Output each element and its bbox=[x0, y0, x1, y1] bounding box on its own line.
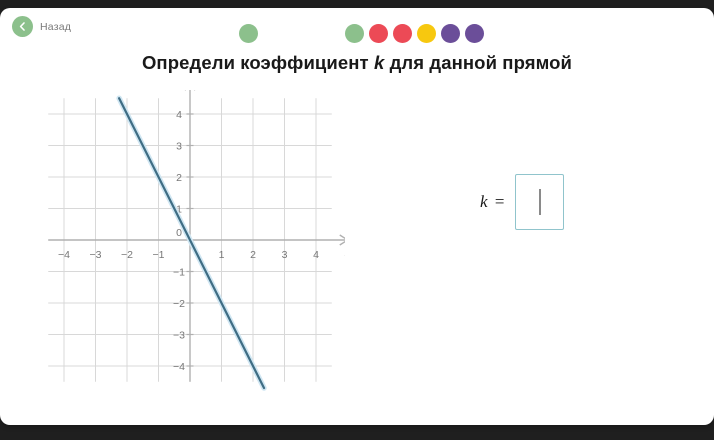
y-tick-label: 3 bbox=[176, 141, 182, 153]
page-title: Определи коэффициент k для данной прямой bbox=[0, 52, 714, 74]
progress-dot-1 bbox=[239, 24, 258, 43]
progress-dot-4 bbox=[393, 24, 412, 43]
x-axis-label: x bbox=[344, 247, 345, 259]
graph-svg: −4−3−2−112344321−1−2−3−40xy bbox=[45, 90, 345, 395]
answer-input[interactable] bbox=[515, 174, 564, 230]
progress-indicator bbox=[239, 24, 475, 43]
progress-dot-7 bbox=[465, 24, 484, 43]
y-tick-label: −2 bbox=[173, 298, 185, 310]
text-caret bbox=[539, 189, 541, 215]
progress-dot-2 bbox=[345, 24, 364, 43]
back-label: Назад bbox=[40, 21, 71, 33]
answer-area: k = bbox=[480, 174, 564, 230]
coordinate-plane: −4−3−2−112344321−1−2−3−40xy bbox=[45, 90, 345, 395]
x-tick-label: −3 bbox=[90, 249, 102, 261]
y-tick-label: −3 bbox=[173, 330, 185, 342]
x-tick-label: −2 bbox=[121, 249, 133, 261]
progress-dot-3 bbox=[369, 24, 388, 43]
y-tick-label: −4 bbox=[173, 361, 185, 373]
progress-dot-6 bbox=[441, 24, 460, 43]
answer-label: k = bbox=[480, 192, 506, 212]
x-tick-label: 4 bbox=[313, 249, 319, 261]
x-tick-label: −4 bbox=[58, 249, 70, 261]
x-tick-label: 3 bbox=[282, 249, 288, 261]
plotted-line bbox=[119, 98, 264, 388]
x-tick-label: 1 bbox=[219, 249, 225, 261]
lesson-card: Назад Определи коэффициент k для данной … bbox=[0, 8, 714, 425]
title-variable: k bbox=[374, 52, 384, 73]
y-tick-label: 4 bbox=[176, 109, 182, 121]
origin-label: 0 bbox=[176, 227, 182, 239]
title-text-before: Определи коэффициент bbox=[142, 52, 374, 73]
x-tick-label: −1 bbox=[153, 249, 165, 261]
screen-root: Назад Определи коэффициент k для данной … bbox=[0, 0, 714, 440]
y-tick-label: 2 bbox=[176, 172, 182, 184]
y-tick-label: −1 bbox=[173, 267, 185, 279]
x-tick-label: 2 bbox=[250, 249, 256, 261]
back-button[interactable]: Назад bbox=[12, 16, 71, 37]
title-text-after: для данной прямой bbox=[384, 52, 572, 73]
progress-dot-5 bbox=[417, 24, 436, 43]
chevron-left-icon bbox=[12, 16, 33, 37]
